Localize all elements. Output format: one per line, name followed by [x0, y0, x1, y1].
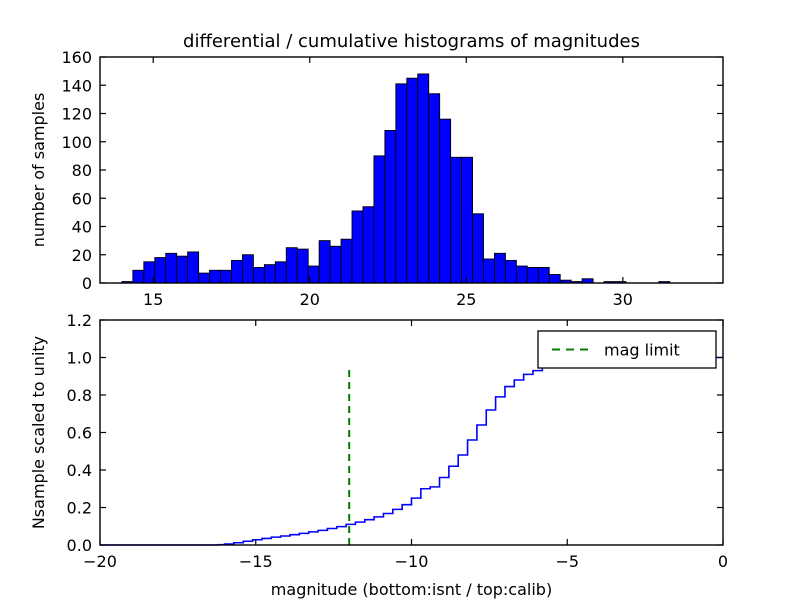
bottom-xtick-label: −10	[395, 552, 429, 571]
histogram-bar	[363, 207, 374, 283]
histogram-bar	[253, 267, 264, 283]
histogram-bar	[199, 273, 210, 283]
histogram-bar	[297, 249, 308, 283]
top-ytick-label: 120	[61, 105, 92, 124]
histogram-bar	[210, 270, 221, 283]
top-ytick-label: 60	[72, 189, 92, 208]
histogram-bar	[505, 260, 516, 283]
histogram-bar	[188, 252, 199, 283]
histogram-bar	[330, 246, 341, 283]
figure-title: differential / cumulative histograms of …	[183, 31, 640, 52]
bottom-xlabel: magnitude (bottom:isnt / top:calib)	[271, 580, 552, 599]
top-xtick-label: 25	[456, 290, 476, 309]
bottom-ytick-label: 1.0	[67, 349, 92, 368]
matplotlib-figure: 02040608010012014016015202530number of s…	[0, 0, 800, 600]
top-ytick-label: 100	[61, 133, 92, 152]
histogram-bar	[166, 253, 177, 283]
bottom-xtick-label: −20	[83, 552, 117, 571]
top-ytick-label: 0	[82, 274, 92, 293]
histogram-bar	[429, 94, 440, 283]
histogram-bar	[494, 253, 505, 283]
histogram-bar	[286, 248, 297, 283]
top-ytick-label: 20	[72, 246, 92, 265]
bottom-ytick-label: 0.8	[67, 386, 92, 405]
histogram-bar	[549, 275, 560, 283]
bottom-ytick-label: 0.6	[67, 424, 92, 443]
histogram-bar	[473, 214, 484, 283]
top-xtick-label: 30	[613, 290, 633, 309]
histogram-bars	[122, 74, 670, 283]
bottom-xtick-label: −5	[555, 552, 579, 571]
bottom-ylabel: Nsample scaled to unity	[29, 336, 48, 529]
histogram-bar	[527, 267, 538, 283]
histogram-bar	[451, 157, 462, 283]
bottom-ytick-label: 0.2	[67, 499, 92, 518]
top-xtick-label: 15	[143, 290, 163, 309]
legend[interactable]: mag limit	[538, 331, 716, 368]
bottom-xtick-label: 0	[718, 552, 728, 571]
histogram-bar	[155, 258, 166, 283]
histogram-bar	[538, 267, 549, 283]
histogram-bar	[231, 260, 242, 283]
top-ytick-label: 40	[72, 218, 92, 237]
cumulative-curve	[100, 358, 723, 546]
figure-canvas: 02040608010012014016015202530number of s…	[0, 0, 800, 600]
top-ytick-label: 160	[61, 48, 92, 67]
histogram-bar	[352, 211, 363, 283]
histogram-bar	[275, 262, 286, 283]
top-ytick-label: 80	[72, 161, 92, 180]
histogram-bar	[133, 270, 144, 283]
histogram-bar	[385, 130, 396, 283]
histogram-bar	[177, 256, 188, 283]
histogram-bar	[418, 74, 429, 283]
histogram-bar	[374, 156, 385, 283]
histogram-bar	[264, 265, 275, 283]
top-xtick-label: 20	[300, 290, 320, 309]
histogram-bar	[407, 78, 418, 283]
top-panel: 02040608010012014016015202530number of s…	[29, 31, 723, 309]
histogram-bar	[484, 259, 495, 283]
bottom-ytick-label: 0.4	[67, 461, 92, 480]
histogram-bar	[221, 270, 232, 283]
bottom-xtick-label: −15	[239, 552, 273, 571]
histogram-bar	[440, 119, 451, 283]
legend-mag-limit-label: mag limit	[604, 341, 680, 360]
histogram-bar	[319, 241, 330, 283]
histogram-bar	[396, 84, 407, 283]
histogram-bar	[341, 239, 352, 283]
top-ytick-label: 140	[61, 76, 92, 95]
histogram-bar	[242, 255, 253, 283]
bottom-ytick-label: 1.2	[67, 311, 92, 330]
top-ylabel: number of samples	[29, 93, 48, 248]
histogram-bar	[462, 157, 473, 283]
histogram-bar	[516, 266, 527, 283]
